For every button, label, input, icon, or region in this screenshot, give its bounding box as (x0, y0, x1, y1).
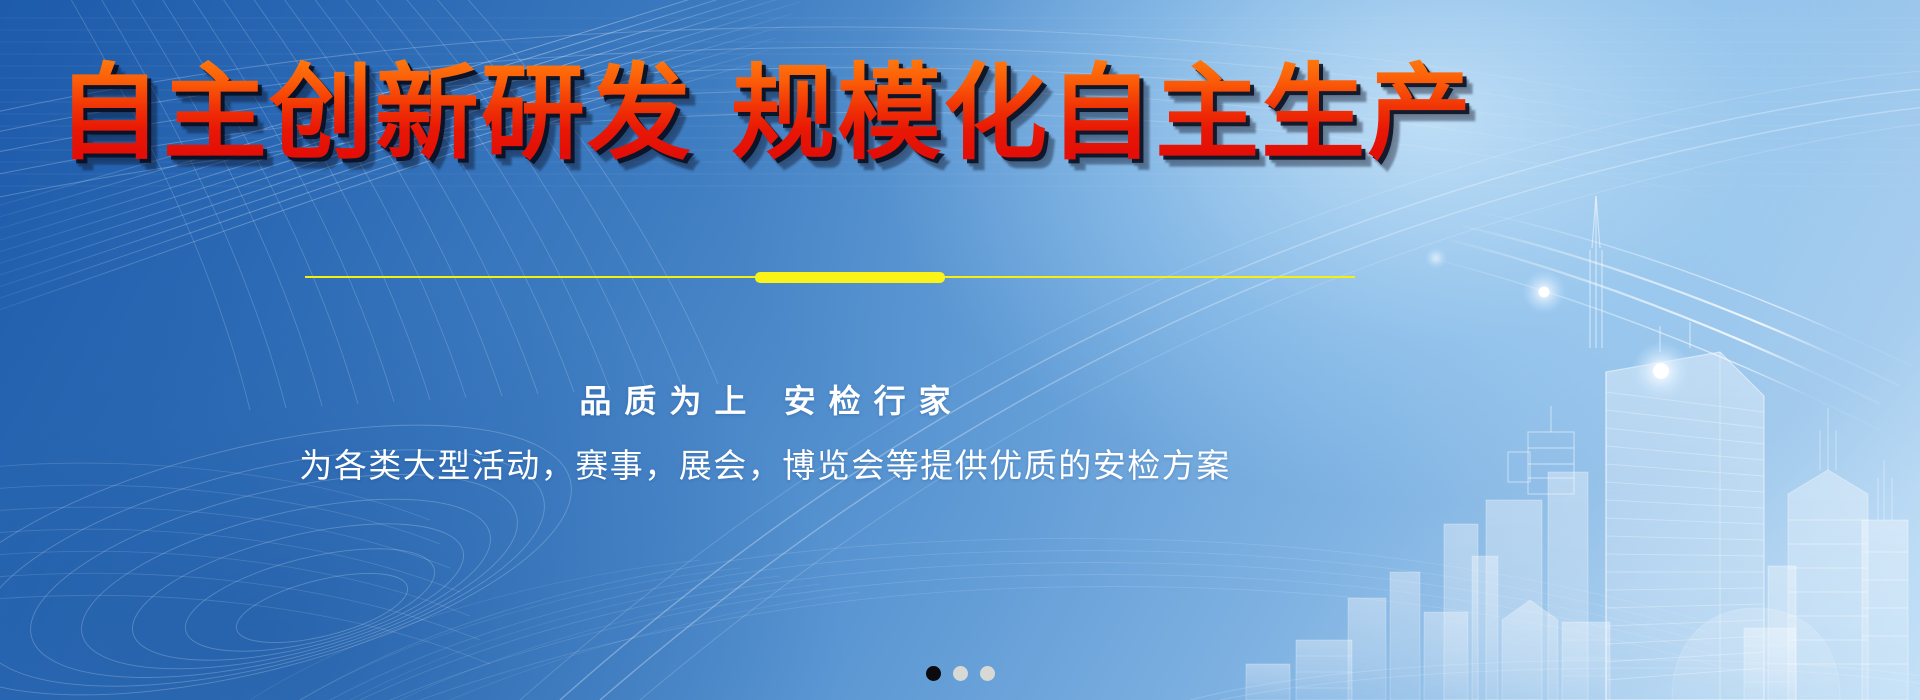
divider-thick-bar (755, 272, 945, 283)
subtitle-block: 品质为上 安检行家 为各类大型活动，赛事，展会，博览会等提供优质的安检方案 (0, 378, 1530, 488)
subtitle-primary: 品质为上 安检行家 (0, 378, 1530, 424)
page-title: 自主创新研发 规模化自主生产 (57, 58, 1473, 168)
carousel-dot-3[interactable] (980, 666, 995, 681)
title-divider (305, 275, 1355, 279)
carousel-dot-1[interactable] (926, 666, 941, 681)
carousel-dot-2[interactable] (953, 666, 968, 681)
carousel-indicators[interactable] (0, 666, 1920, 681)
subtitle-secondary: 为各类大型活动，赛事，展会，博览会等提供优质的安检方案 (0, 444, 1530, 488)
hero-banner: 自主创新研发 规模化自主生产 品质为上 安检行家 为各类大型活动，赛事，展会，博… (0, 0, 1920, 700)
title-block: 自主创新研发 规模化自主生产 (0, 58, 1530, 168)
